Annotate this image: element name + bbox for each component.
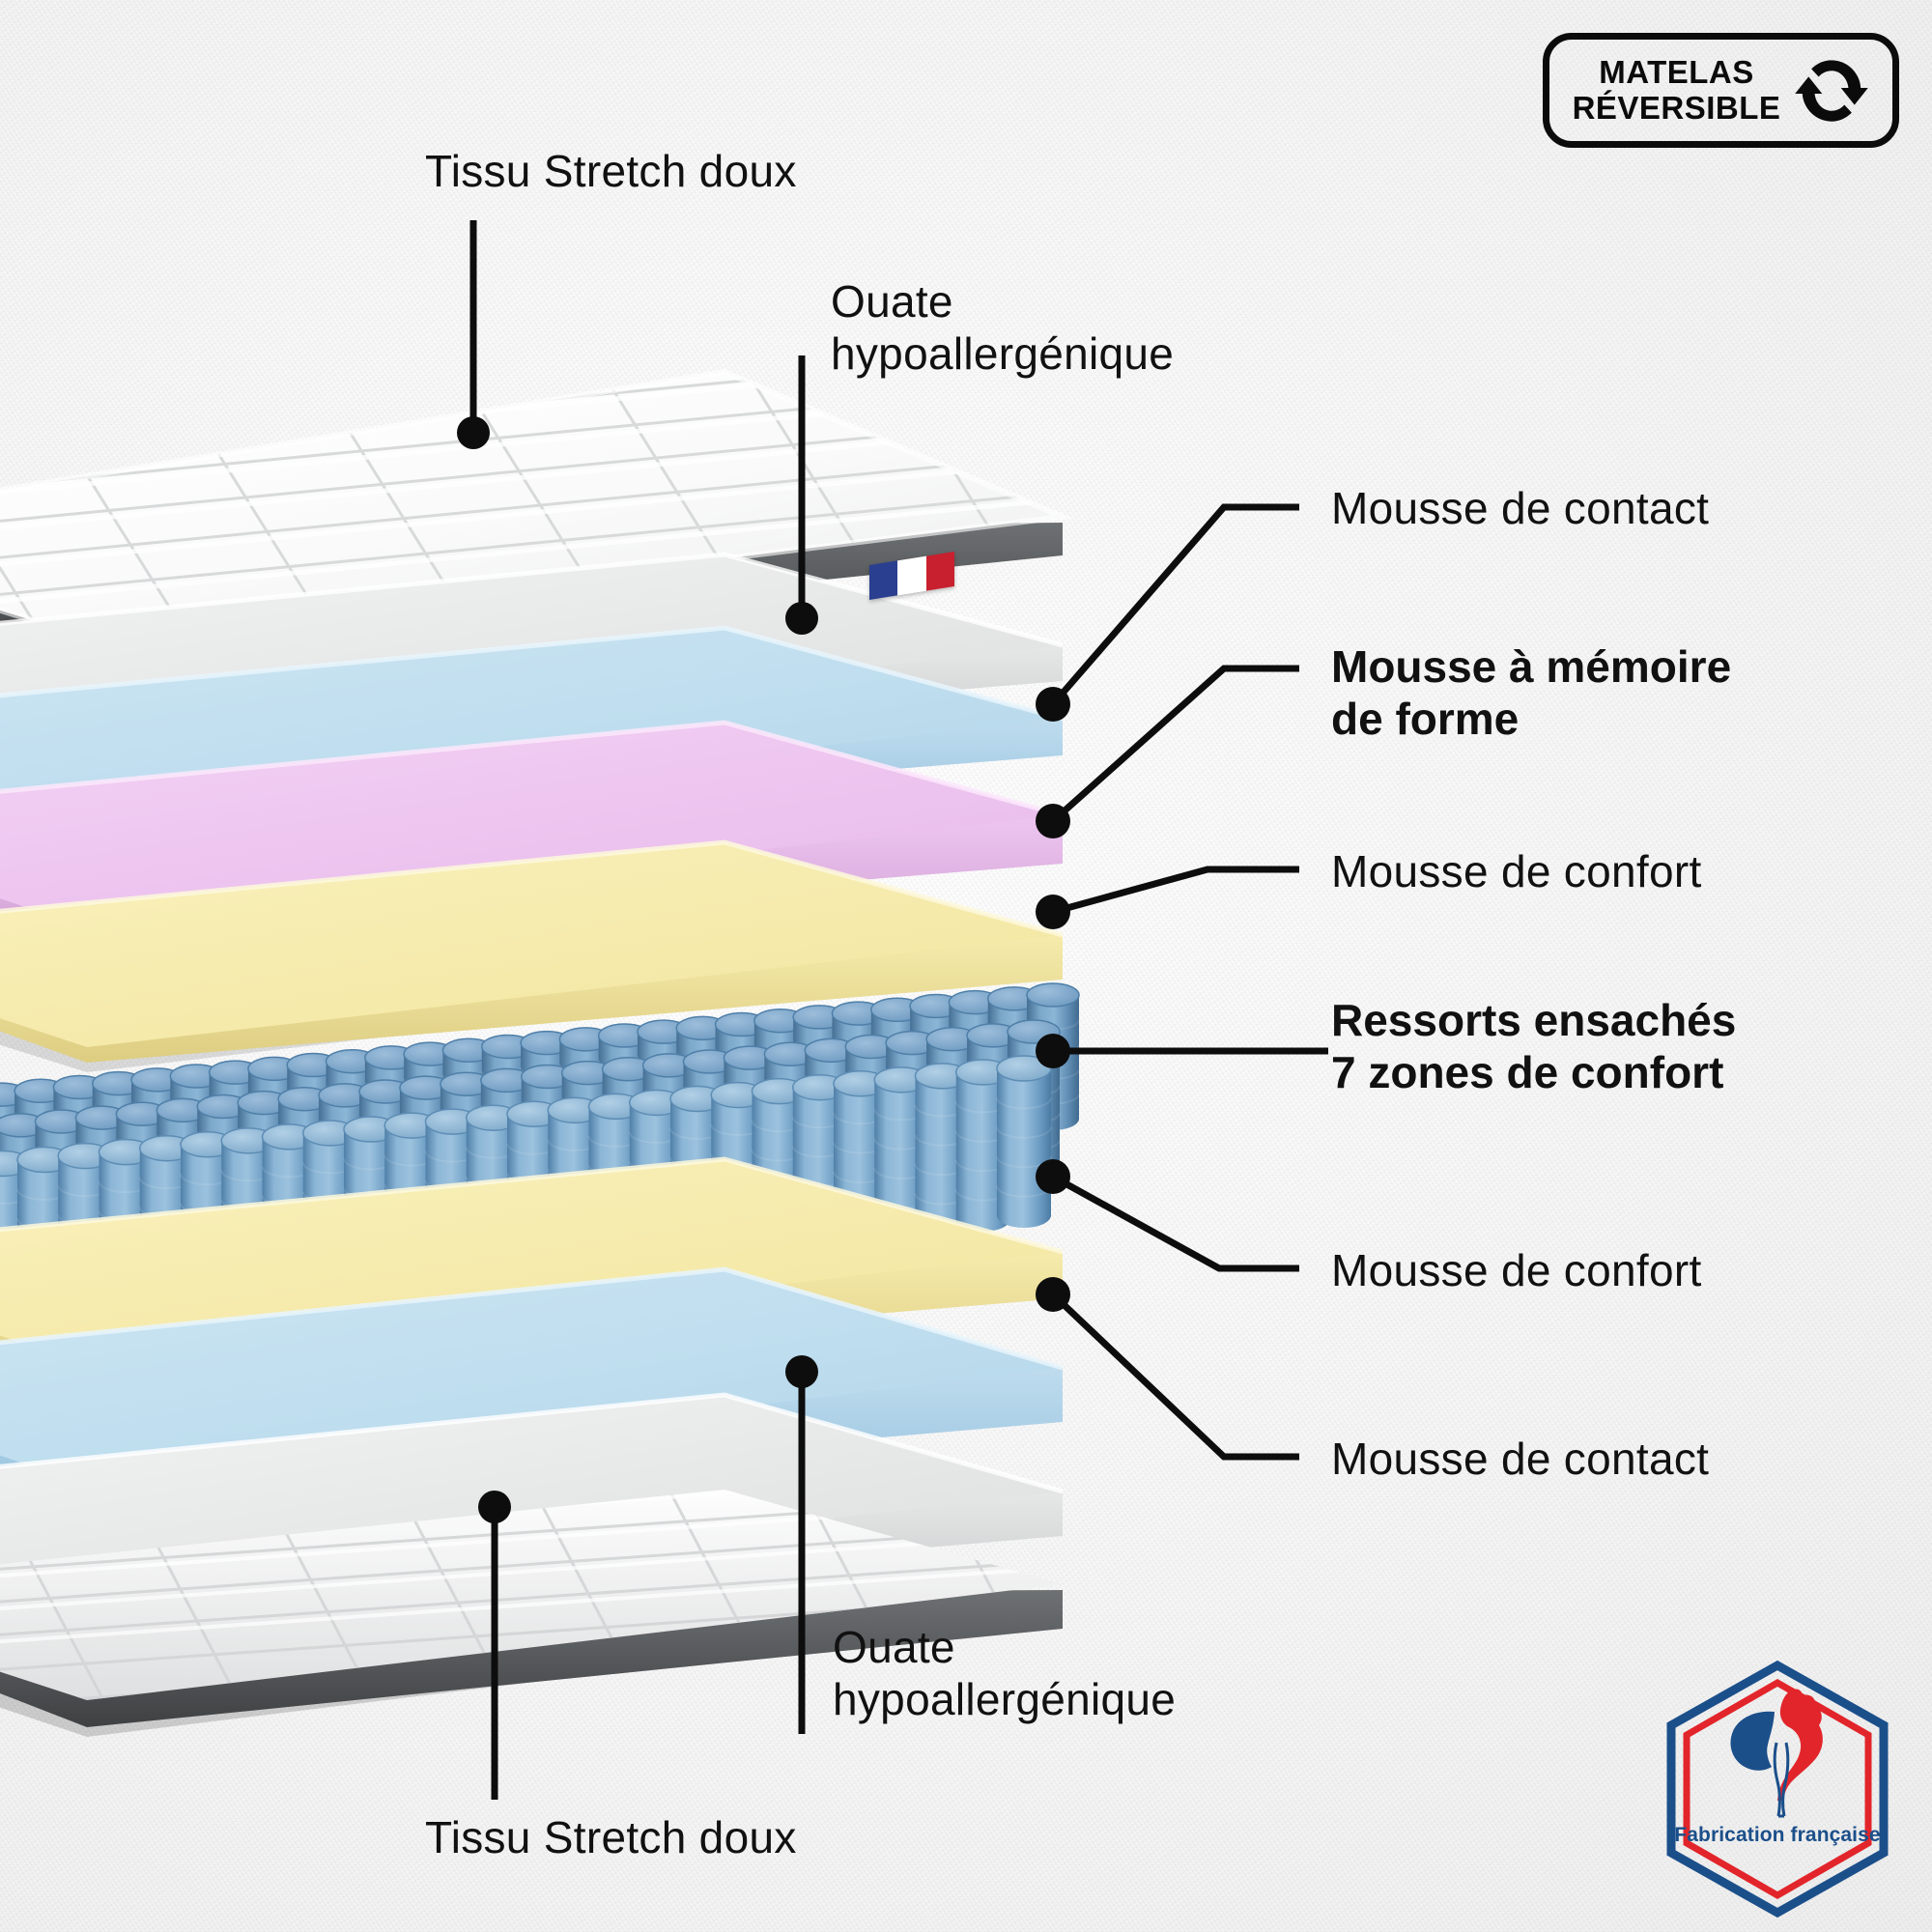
label-top-wadding: Ouate hypoallergénique — [831, 275, 1174, 381]
french-badge-caption: Fabrication française — [1642, 1824, 1913, 1847]
label-contact-top: Mousse de contact — [1331, 482, 1709, 534]
french-rooster-icon — [1642, 1654, 1913, 1924]
flag-band-blue — [869, 560, 897, 600]
label-comfort-bottom: Mousse de confort — [1331, 1244, 1702, 1296]
label-bottom-wadding: Ouate hypoallergénique — [833, 1621, 1176, 1726]
label-springs: Ressorts ensachés 7 zones de confort — [1331, 994, 1736, 1099]
label-memory-foam: Mousse à mémoire de forme — [1331, 640, 1731, 746]
reversible-line1: MATELAS — [1599, 54, 1754, 90]
reversible-line2: RÉVERSIBLE — [1573, 90, 1781, 126]
flag-band-red — [926, 552, 954, 591]
label-top-fabric: Tissu Stretch doux — [425, 145, 797, 197]
label-contact-bottom: Mousse de contact — [1331, 1433, 1709, 1485]
label-bottom-fabric: Tissu Stretch doux — [425, 1811, 797, 1863]
reversible-badge-text: MATELASRÉVERSIBLE — [1573, 55, 1781, 127]
reversible-badge: MATELASRÉVERSIBLE — [1543, 33, 1899, 148]
infographic-canvas: Tissu Stretch doux Ouate hypoallergéniqu… — [0, 0, 1932, 1932]
label-comfort-top: Mousse de confort — [1331, 845, 1702, 897]
refresh-cycle-icon — [1794, 53, 1869, 128]
flag-band-white — [897, 556, 925, 596]
french-manufacturing-badge: Fabrication française — [1642, 1654, 1913, 1924]
